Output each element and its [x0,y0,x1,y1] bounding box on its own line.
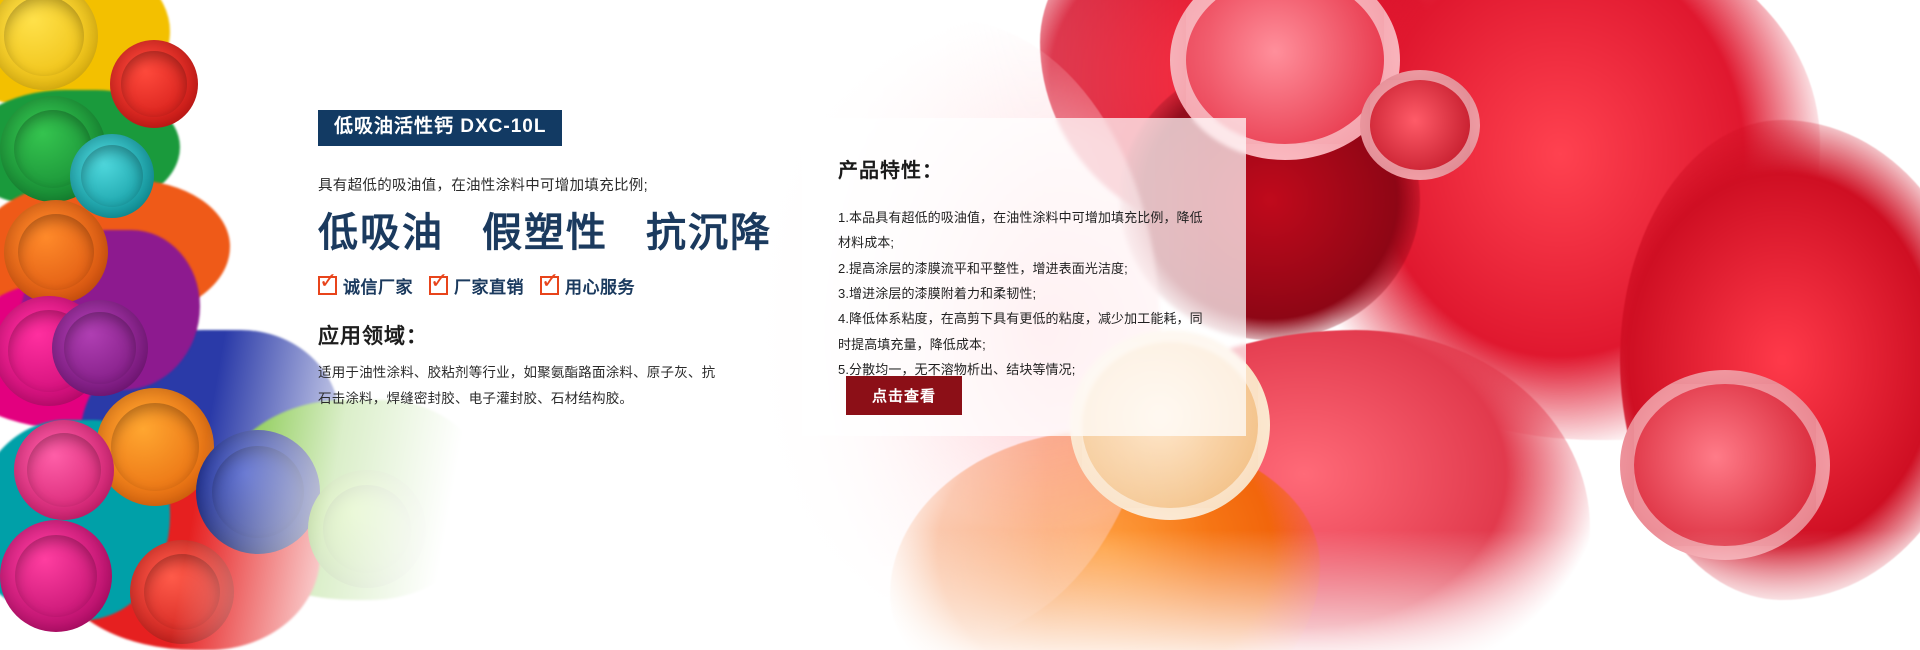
application-field-title: 应用领域： [318,320,738,350]
headline-word-3: 抗沉降 [646,210,772,255]
product-title-badge: 低吸油活性钙 DXC-10L [318,110,562,146]
product-subtitle: 具有超低的吸油值，在油性涂料中可增加填充比例; [318,174,738,195]
list-item: 1.本品具有超低的吸油值，在油性涂料中可增加填充比例，降低材料成本; [838,205,1212,256]
trust-badge-label: 用心服务 [565,273,635,298]
right-art-bottom-fade [740,530,1920,650]
banner-stage: 低吸油活性钙 DXC-10L 具有超低的吸油值，在油性涂料中可增加填充比例; 低… [0,0,1920,650]
panel-title: 产品特性： [838,154,1212,183]
headline-word-1: 低吸油 [318,210,444,255]
headline-keywords: 低吸油 假塑性 抗沉降 [318,211,738,255]
trust-badge-label: 诚信厂家 [343,273,413,298]
trust-badge-3: ✓ 用心服务 [540,273,635,298]
headline-word-2: 假塑性 [482,210,608,255]
trust-badges-row: ✓ 诚信厂家 ✓ 厂家直销 ✓ 用心服务 [318,273,738,298]
list-item: 2.提高涂层的漆膜流平和平整性，增进表面光洁度; [838,256,1212,281]
panel-feature-list: 1.本品具有超低的吸油值，在油性涂料中可增加填充比例，降低材料成本; 2.提高涂… [838,205,1212,382]
checkbox-checked-icon: ✓ [540,276,559,295]
list-item: 3.增进涂层的漆膜附着力和柔韧性; [838,281,1212,306]
trust-badge-2: ✓ 厂家直销 [429,273,524,298]
checkbox-checked-icon: ✓ [318,276,337,295]
checkbox-checked-icon: ✓ [429,276,448,295]
view-details-button[interactable]: 点击查看 [846,376,962,415]
left-content-block: 低吸油活性钙 DXC-10L 具有超低的吸油值，在油性涂料中可增加填充比例; 低… [318,110,738,413]
list-item: 4.降低体系粘度，在高剪下具有更低的粘度，减少加工能耗，同时提高填充量，降低成本… [838,306,1212,357]
trust-badge-1: ✓ 诚信厂家 [318,273,413,298]
application-field-body: 适用于油性涂料、胶粘剂等行业，如聚氨酯路面涂料、原子灰、抗石击涂料，焊缝密封胶、… [318,360,718,413]
trust-badge-label: 厂家直销 [454,273,524,298]
